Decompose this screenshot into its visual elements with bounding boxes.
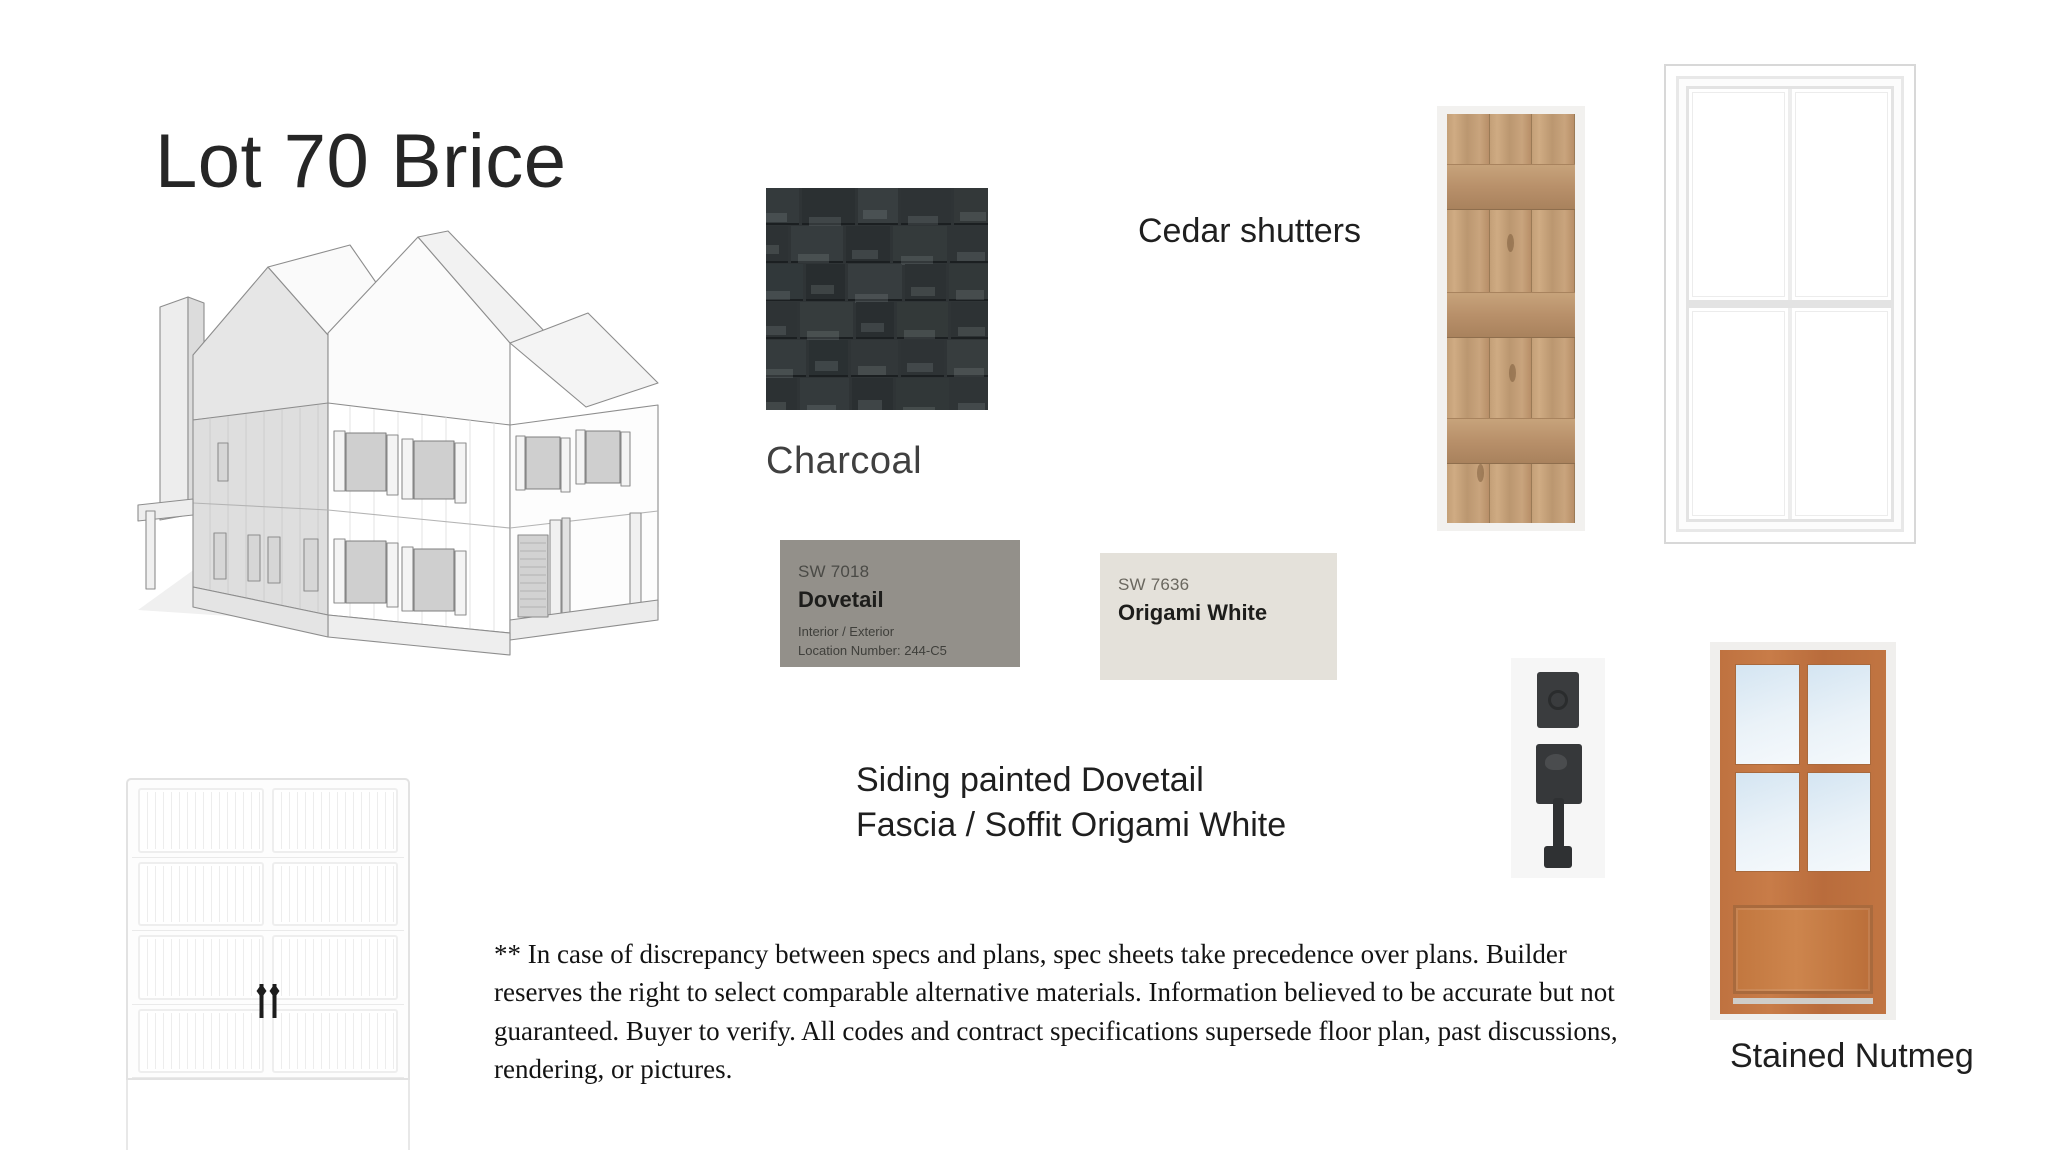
window-lite	[1692, 311, 1785, 516]
handle-plate	[1536, 744, 1582, 804]
shutter-batten	[1447, 418, 1575, 464]
front-entry-door	[1710, 642, 1896, 1020]
roof-shingle-swatch	[766, 188, 988, 410]
window-frame	[1676, 76, 1904, 532]
paint-chip-code: SW 7636	[1118, 575, 1319, 595]
shutter-boards	[1447, 114, 1575, 523]
garage-panel	[138, 862, 264, 927]
garage-door-panels	[126, 778, 410, 1080]
paint-chip-name: Dovetail	[798, 587, 1002, 613]
garage-panel	[138, 935, 264, 1000]
door-threshold	[1733, 998, 1873, 1004]
door-slab	[1720, 650, 1886, 1014]
window-lower-sash	[1686, 305, 1894, 522]
lock-cylinder-icon	[1548, 690, 1568, 710]
cedar-board-and-batten-shutter	[1437, 106, 1585, 531]
door-lite	[1807, 664, 1872, 765]
window-mullion	[1788, 89, 1792, 300]
window-lite	[1795, 92, 1888, 297]
garage-panel	[272, 1009, 398, 1074]
window-mullion	[1788, 308, 1792, 519]
deadbolt-escutcheon	[1537, 672, 1579, 728]
window-lite	[1795, 311, 1888, 516]
garage-panel-row	[132, 784, 404, 858]
garage-panel	[138, 788, 264, 853]
disclaimer-text: ** In case of discrepancy between specs …	[494, 935, 1624, 1088]
garage-panel	[272, 862, 398, 927]
paint-chip-dovetail: SW 7018 Dovetail Interior / Exterior Loc…	[780, 540, 1020, 667]
cedar-shutters-label: Cedar shutters	[1138, 212, 1361, 251]
house-elevation-rendering	[118, 215, 678, 685]
door-handleset-hardware	[1511, 658, 1605, 878]
garage-handle-icon	[273, 984, 277, 1018]
door-raised-panel	[1733, 905, 1873, 994]
paint-chip-name: Origami White	[1118, 600, 1319, 626]
door-lever	[1545, 754, 1567, 770]
window-lite	[1692, 92, 1785, 297]
siding-caption-line-1: Siding painted Dovetail	[856, 758, 1286, 803]
shutter-batten	[1447, 292, 1575, 338]
paint-chip-code: SW 7018	[798, 562, 1002, 582]
door-rail	[1733, 874, 1873, 901]
siding-caption: Siding painted Dovetail Fascia / Soffit …	[856, 758, 1286, 848]
siding-caption-line-2: Fascia / Soffit Origami White	[856, 803, 1286, 848]
door-lite	[1735, 664, 1800, 765]
door-lite	[1735, 772, 1800, 873]
door-lite	[1807, 772, 1872, 873]
page-title: Lot 70 Brice	[155, 118, 567, 205]
door-glass-lites	[1733, 662, 1873, 874]
garage-panel	[272, 935, 398, 1000]
paint-chip-origami-white: SW 7636 Origami White	[1100, 553, 1337, 680]
garage-panel	[138, 1009, 264, 1074]
garage-handle-icon	[260, 984, 264, 1018]
door-stain-label: Stained Nutmeg	[1730, 1037, 1974, 1076]
slide-canvas: Lot 70 Brice	[0, 0, 2048, 1152]
paint-chip-usage: Interior / Exterior	[798, 623, 1002, 642]
shutter-batten	[1447, 164, 1575, 210]
double-hung-window	[1664, 64, 1916, 544]
roof-color-label: Charcoal	[766, 440, 922, 483]
garage-panel	[272, 788, 398, 853]
window-upper-sash	[1686, 86, 1894, 305]
carriage-style-garage-door	[126, 778, 410, 1152]
garage-door-apron	[126, 1080, 410, 1150]
garage-door-handles	[260, 984, 277, 1018]
grip-base	[1544, 846, 1572, 868]
garage-panel-row	[132, 858, 404, 932]
paint-chip-location: Location Number: 244-C5	[798, 642, 1002, 661]
